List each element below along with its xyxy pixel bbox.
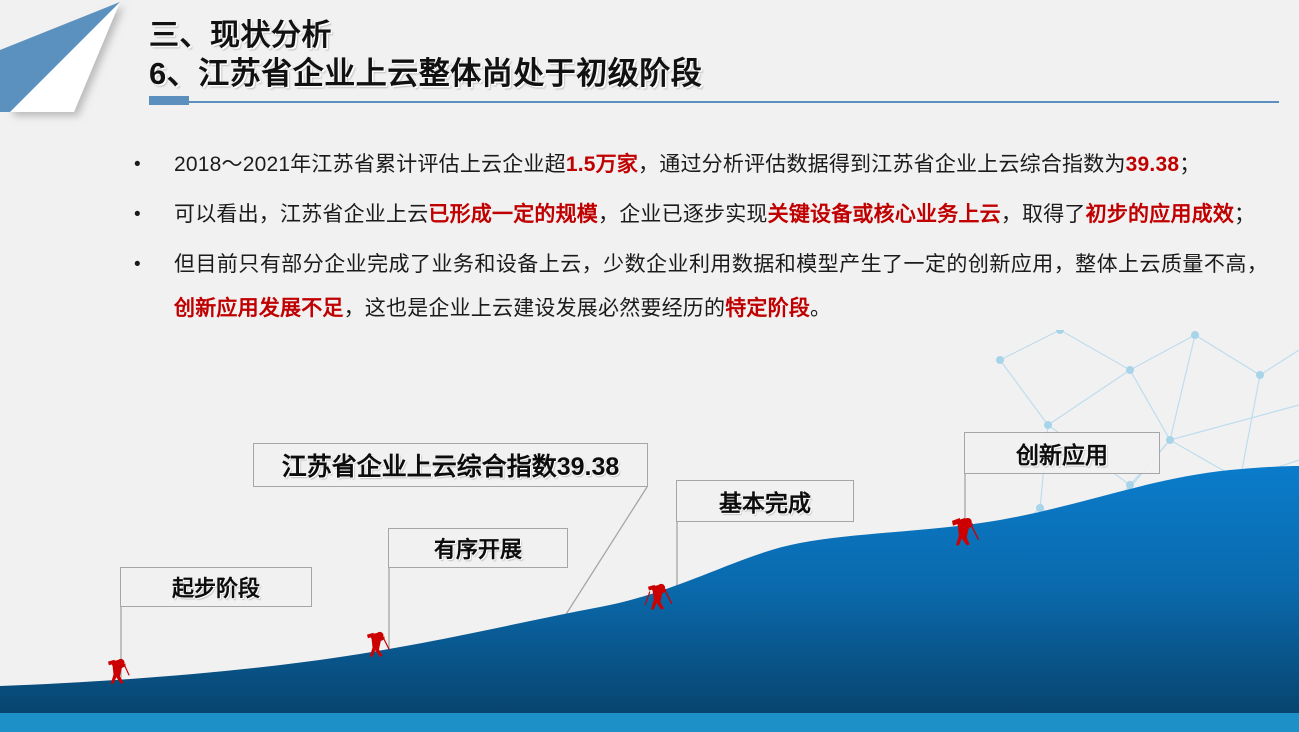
stage-callout-start: 起步阶段 (120, 567, 312, 607)
title-underline (149, 101, 1279, 103)
corner-arrow-decoration (0, 0, 160, 130)
list-item: • 可以看出，江苏省企业上云已形成一定的规模，企业已逐步实现关键设备或核心业务上… (128, 193, 1268, 237)
stage-callout-innovation: 创新应用 (964, 432, 1160, 474)
title-main: 三、现状分析 (149, 18, 1279, 55)
maturity-stage-diagram (0, 330, 1299, 732)
stage-callout-order: 有序开展 (388, 528, 568, 568)
page-title: 三、现状分析 6、江苏省企业上云整体尚处于初级阶段 (149, 18, 1279, 92)
bullet-text: 但目前只有部分企业完成了业务和设备上云，少数企业利用数据和模型产生了一定的创新应… (174, 243, 1268, 331)
bullet-text: 可以看出，江苏省企业上云已形成一定的规模，企业已逐步实现关键设备或核心业务上云，… (174, 193, 1268, 237)
list-item: • 但目前只有部分企业完成了业务和设备上云，少数企业利用数据和模型产生了一定的创… (128, 243, 1268, 331)
title-sub: 6、江苏省企业上云整体尚处于初级阶段 (149, 55, 1279, 93)
slide-root: 三、现状分析 6、江苏省企业上云整体尚处于初级阶段 • 2018～2021年江苏… (0, 0, 1299, 732)
bullet-marker: • (128, 243, 174, 287)
stage-callout-basic: 基本完成 (676, 480, 854, 522)
body-bullet-list: • 2018～2021年江苏省累计评估上云企业超1.5万家，通过分析评估数据得到… (128, 143, 1268, 337)
list-item: • 2018～2021年江苏省累计评估上云企业超1.5万家，通过分析评估数据得到… (128, 143, 1268, 187)
bullet-marker: • (128, 143, 174, 187)
title-underline-accent (149, 96, 189, 105)
footer-accent-bar (0, 713, 1299, 732)
composite-index-callout: 江苏省企业上云综合指数39.38 (253, 443, 648, 487)
bullet-marker: • (128, 193, 174, 237)
bullet-text: 2018～2021年江苏省累计评估上云企业超1.5万家，通过分析评估数据得到江苏… (174, 143, 1268, 187)
